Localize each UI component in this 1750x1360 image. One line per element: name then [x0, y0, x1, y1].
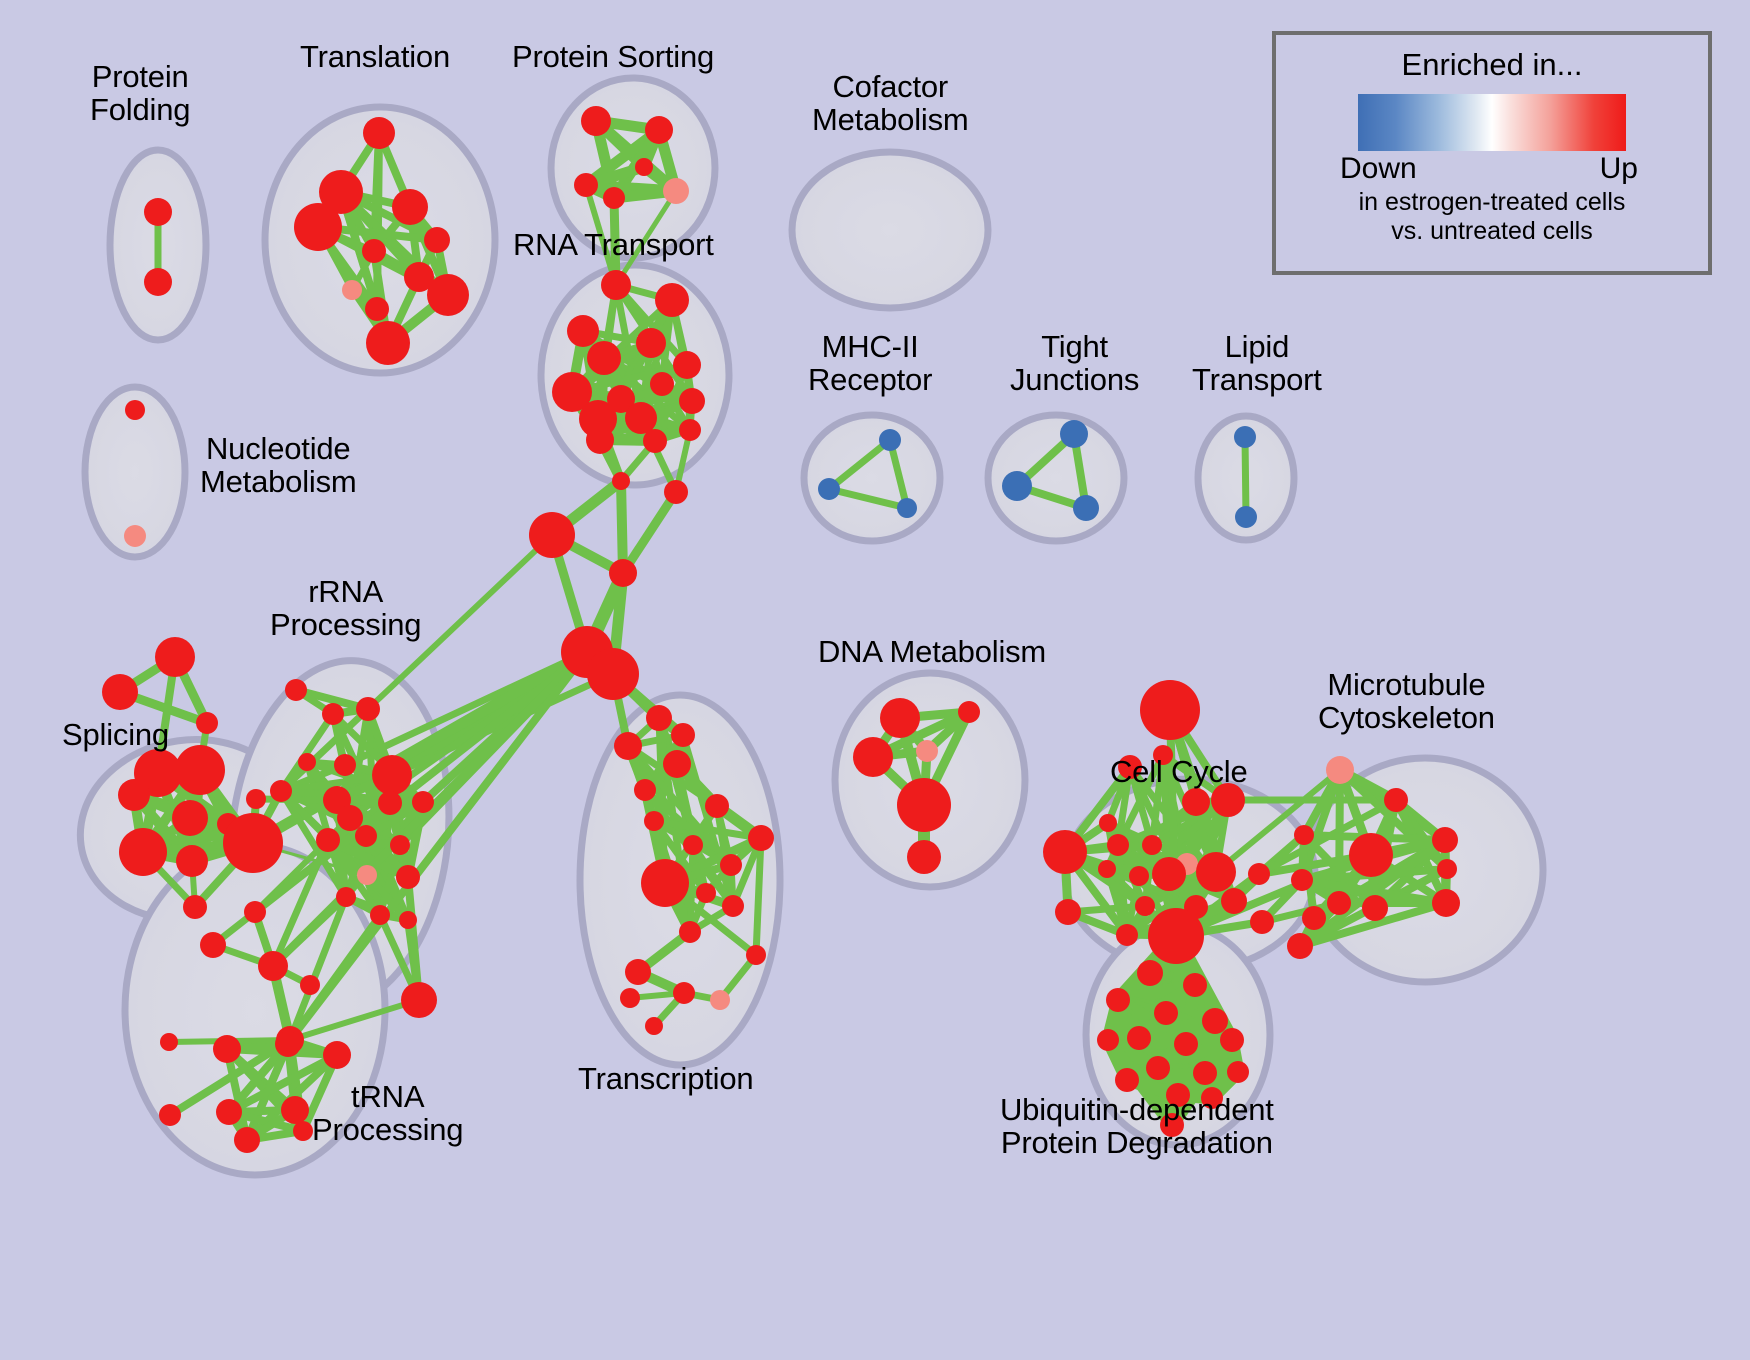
network-node[interactable] [916, 740, 938, 762]
legend-up-label: Up [1600, 152, 1638, 186]
network-node[interactable] [118, 779, 150, 811]
network-node[interactable] [275, 1031, 301, 1057]
network-node[interactable] [342, 280, 362, 300]
network-node[interactable] [958, 701, 980, 723]
network-node[interactable] [285, 679, 307, 701]
network-node[interactable] [601, 270, 631, 300]
network-node[interactable] [1437, 859, 1457, 879]
network-node[interactable] [643, 429, 667, 453]
network-node[interactable] [1098, 860, 1116, 878]
cluster-label-ubiquitin-protein-degradation: Ubiquitin-dependentProtein Degradation [1000, 1093, 1274, 1160]
cluster-label-protein-folding: ProteinFolding [90, 60, 190, 127]
network-node[interactable] [748, 825, 774, 851]
network-node[interactable] [337, 805, 363, 831]
network-node[interactable] [1115, 1068, 1139, 1092]
network-node[interactable] [581, 106, 611, 136]
network-node[interactable] [159, 1104, 181, 1126]
network-node[interactable] [641, 859, 689, 907]
network-node[interactable] [1099, 814, 1117, 832]
legend-title: Enriched in... [1276, 47, 1708, 83]
cluster-label-cofactor-metabolism: CofactorMetabolism [812, 70, 969, 137]
network-node[interactable] [1302, 906, 1326, 930]
cluster-label-lipid-transport: LipidTransport [1192, 330, 1322, 397]
cluster-label-nucleotide-metabolism: NucleotideMetabolism [200, 432, 357, 499]
network-node[interactable] [1060, 420, 1088, 448]
network-node[interactable] [1140, 680, 1200, 740]
network-node[interactable] [673, 982, 695, 1004]
network-node[interactable] [316, 828, 340, 852]
network-node[interactable] [294, 203, 342, 251]
network-node[interactable] [125, 400, 145, 420]
cluster-blob-mhc-ii [804, 415, 940, 541]
network-node[interactable] [424, 227, 450, 253]
network-node[interactable] [683, 835, 703, 855]
network-node[interactable] [644, 811, 664, 831]
network-node[interactable] [529, 512, 575, 558]
network-node[interactable] [1154, 1001, 1178, 1025]
network-node[interactable] [567, 315, 599, 347]
network-node[interactable] [357, 865, 377, 885]
cluster-label-translation: Translation [300, 40, 450, 73]
network-node[interactable] [102, 674, 138, 710]
legend-subtitle-line1: in estrogen-treated cells [1276, 188, 1708, 217]
network-node[interactable] [144, 268, 172, 296]
network-node[interactable] [655, 283, 689, 317]
network-node[interactable] [334, 754, 356, 776]
network-node[interactable] [679, 388, 705, 414]
network-node[interactable] [1146, 1056, 1170, 1080]
cluster-label-transcription: Transcription [578, 1062, 753, 1095]
cluster-label-cell-cycle: Cell Cycle [1110, 755, 1248, 788]
network-node[interactable] [175, 745, 225, 795]
network-node[interactable] [246, 789, 266, 809]
cluster-label-protein-sorting: Protein Sorting [512, 40, 714, 73]
network-node[interactable] [897, 778, 951, 832]
cluster-blob-cofactor [792, 152, 988, 308]
network-node[interactable] [586, 426, 614, 454]
network-node[interactable] [609, 559, 637, 587]
network-node[interactable] [1291, 869, 1313, 891]
network-node[interactable] [587, 648, 639, 700]
network-node[interactable] [196, 712, 218, 734]
network-node[interactable] [625, 402, 657, 434]
network-node[interactable] [1116, 924, 1138, 946]
network-node[interactable] [1235, 506, 1257, 528]
network-node[interactable] [574, 173, 598, 197]
network-node[interactable] [1202, 1008, 1228, 1034]
network-node[interactable] [234, 1127, 260, 1153]
network-node[interactable] [270, 780, 292, 802]
network-node[interactable] [370, 905, 390, 925]
network-node[interactable] [650, 372, 674, 396]
network-node[interactable] [1129, 866, 1149, 886]
network-node[interactable] [636, 328, 666, 358]
network-node[interactable] [879, 429, 901, 451]
cluster-label-trna-processing: tRNAProcessing [312, 1080, 463, 1147]
network-node[interactable] [124, 525, 146, 547]
network-node[interactable] [1432, 827, 1458, 853]
network-node[interactable] [1250, 910, 1274, 934]
network-node[interactable] [1174, 1032, 1198, 1056]
network-node[interactable] [183, 895, 207, 919]
legend-box: Enriched in... Down Up in estrogen-treat… [1272, 31, 1712, 275]
network-node[interactable] [645, 116, 673, 144]
network-node[interactable] [155, 637, 195, 677]
network-node[interactable] [223, 813, 283, 873]
network-node[interactable] [1432, 889, 1460, 917]
network-node[interactable] [1107, 834, 1129, 856]
network-node[interactable] [392, 189, 428, 225]
network-node[interactable] [399, 911, 417, 929]
network-node[interactable] [1326, 756, 1354, 784]
network-node[interactable] [1182, 788, 1210, 816]
cluster-label-mhc-ii-receptor: MHC-IIReceptor [808, 330, 932, 397]
network-node[interactable] [620, 988, 640, 1008]
network-node[interactable] [200, 932, 226, 958]
network-node[interactable] [1196, 852, 1236, 892]
network-node[interactable] [671, 723, 695, 747]
network-node[interactable] [427, 274, 469, 316]
cluster-label-dna-metabolism: DNA Metabolism [818, 635, 1046, 668]
network-node[interactable] [401, 982, 437, 1018]
network-node[interactable] [663, 750, 691, 778]
network-edge [756, 838, 761, 955]
cluster-label-tight-junctions: TightJunctions [1010, 330, 1139, 397]
network-node[interactable] [119, 828, 167, 876]
network-node[interactable] [176, 845, 208, 877]
network-node[interactable] [1384, 788, 1408, 812]
network-node[interactable] [603, 187, 625, 209]
network-node[interactable] [818, 478, 840, 500]
network-node[interactable] [1227, 1061, 1249, 1083]
network-node[interactable] [298, 753, 316, 771]
network-node[interactable] [363, 117, 395, 149]
network-node[interactable] [1193, 1061, 1217, 1085]
network-edge [1245, 437, 1246, 517]
network-node[interactable] [1106, 988, 1130, 1012]
network-node[interactable] [634, 779, 656, 801]
network-figure: ProteinFolding Translation Protein Sorti… [0, 0, 1750, 1360]
network-node[interactable] [1220, 1028, 1244, 1052]
network-node[interactable] [625, 959, 651, 985]
network-node[interactable] [293, 1121, 313, 1141]
network-node[interactable] [1127, 1026, 1151, 1050]
network-node[interactable] [258, 951, 288, 981]
network-edge [623, 492, 676, 573]
network-node[interactable] [1287, 933, 1313, 959]
network-node[interactable] [673, 351, 701, 379]
network-node[interactable] [587, 341, 621, 375]
cluster-label-rrna-processing: rRNAProcessing [270, 575, 421, 642]
network-node[interactable] [355, 825, 377, 847]
cluster-label-rna-transport: RNA Transport [513, 228, 714, 261]
network-node[interactable] [853, 737, 893, 777]
network-node[interactable] [1221, 888, 1247, 914]
network-node[interactable] [614, 732, 642, 760]
network-node[interactable] [1043, 830, 1087, 874]
network-node[interactable] [646, 705, 672, 731]
network-node[interactable] [390, 835, 410, 855]
network-node[interactable] [907, 840, 941, 874]
legend-down-label: Down [1340, 152, 1417, 186]
network-node[interactable] [679, 921, 701, 943]
network-node[interactable] [1142, 835, 1162, 855]
network-node[interactable] [362, 239, 386, 263]
cluster-label-microtubule-cytoskeleton: MicrotubuleCytoskeleton [1318, 668, 1495, 735]
legend-color-gradient-bar [1358, 94, 1626, 151]
network-node[interactable] [679, 419, 701, 441]
network-node[interactable] [696, 883, 716, 903]
network-node[interactable] [412, 791, 434, 813]
network-node[interactable] [213, 1035, 241, 1063]
network-node[interactable] [710, 990, 730, 1010]
network-node[interactable] [1183, 973, 1207, 997]
network-node[interactable] [378, 791, 402, 815]
cluster-label-splicing: Splicing [62, 718, 169, 751]
network-node[interactable] [720, 854, 742, 876]
network-node[interactable] [323, 1041, 351, 1069]
network-node[interactable] [1349, 833, 1393, 877]
network-node[interactable] [664, 480, 688, 504]
network-node[interactable] [746, 945, 766, 965]
network-node[interactable] [1148, 908, 1204, 964]
network-node[interactable] [1073, 495, 1099, 521]
network-node[interactable] [1362, 895, 1388, 921]
network-node[interactable] [897, 498, 917, 518]
network-node[interactable] [281, 1096, 309, 1124]
network-node[interactable] [635, 158, 653, 176]
network-node[interactable] [322, 703, 344, 725]
network-node[interactable] [1152, 857, 1186, 891]
network-node[interactable] [244, 901, 266, 923]
network-node[interactable] [722, 895, 744, 917]
network-node[interactable] [1294, 825, 1314, 845]
network-node[interactable] [1137, 960, 1163, 986]
network-node[interactable] [1135, 896, 1155, 916]
network-node[interactable] [396, 865, 420, 889]
legend-endpoint-labels: Down Up [1358, 152, 1626, 188]
network-node[interactable] [1097, 1029, 1119, 1051]
network-node[interactable] [1327, 891, 1351, 915]
network-node[interactable] [144, 198, 172, 226]
legend-subtitle-line2: vs. untreated cells [1276, 217, 1708, 246]
network-node[interactable] [300, 975, 320, 995]
network-node[interactable] [880, 698, 920, 738]
network-node[interactable] [1248, 863, 1270, 885]
network-node[interactable] [705, 794, 729, 818]
network-node[interactable] [372, 755, 412, 795]
network-node[interactable] [1002, 471, 1032, 501]
network-node[interactable] [645, 1017, 663, 1035]
network-node[interactable] [365, 297, 389, 321]
network-node[interactable] [1055, 899, 1081, 925]
network-node[interactable] [1234, 426, 1256, 448]
network-node[interactable] [366, 321, 410, 365]
network-node[interactable] [663, 178, 689, 204]
network-node[interactable] [612, 472, 630, 490]
network-node[interactable] [216, 1099, 242, 1125]
network-node[interactable] [356, 697, 380, 721]
network-node[interactable] [172, 800, 208, 836]
network-node[interactable] [160, 1033, 178, 1051]
network-node[interactable] [336, 887, 356, 907]
